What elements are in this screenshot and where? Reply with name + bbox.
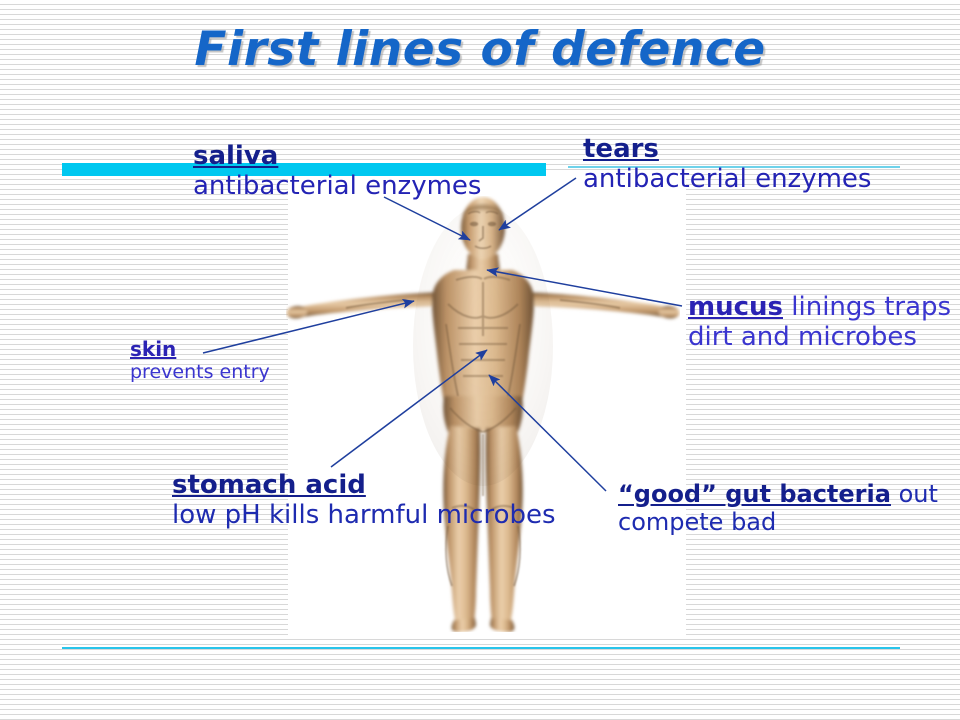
bottom-thin-rule [62,647,900,649]
callout-skin: skin prevents entry [130,338,270,383]
page-title: First lines of defence [0,22,960,77]
callout-stomach-acid-heading: stomach acid [172,470,366,500]
callout-saliva-body: antibacterial enzymes [193,171,481,201]
callout-tears-body: antibacterial enzymes [583,164,871,194]
callout-skin-heading: skin [130,337,176,361]
callout-stomach-acid: stomach acid low pH kills harmful microb… [172,470,556,530]
callout-tears-heading: tears [583,134,659,164]
callout-mucus-heading: mucus [688,292,783,322]
callout-tears: tears antibacterial enzymes [583,134,871,194]
slide-canvas: First lines of defence [0,0,960,720]
callout-saliva: saliva antibacterial enzymes [193,141,481,201]
callout-mucus: mucus linings traps dirt and microbes [688,292,960,352]
callout-skin-body: prevents entry [130,361,270,383]
callout-good-gut-bacteria: “good” gut bacteria out compete bad [618,481,960,537]
human-body-figure [286,196,680,632]
callout-good-gut-bacteria-heading: “good” gut bacteria [618,480,891,508]
callout-saliva-heading: saliva [193,141,278,171]
callout-stomach-acid-body: low pH kills harmful microbes [172,500,556,530]
